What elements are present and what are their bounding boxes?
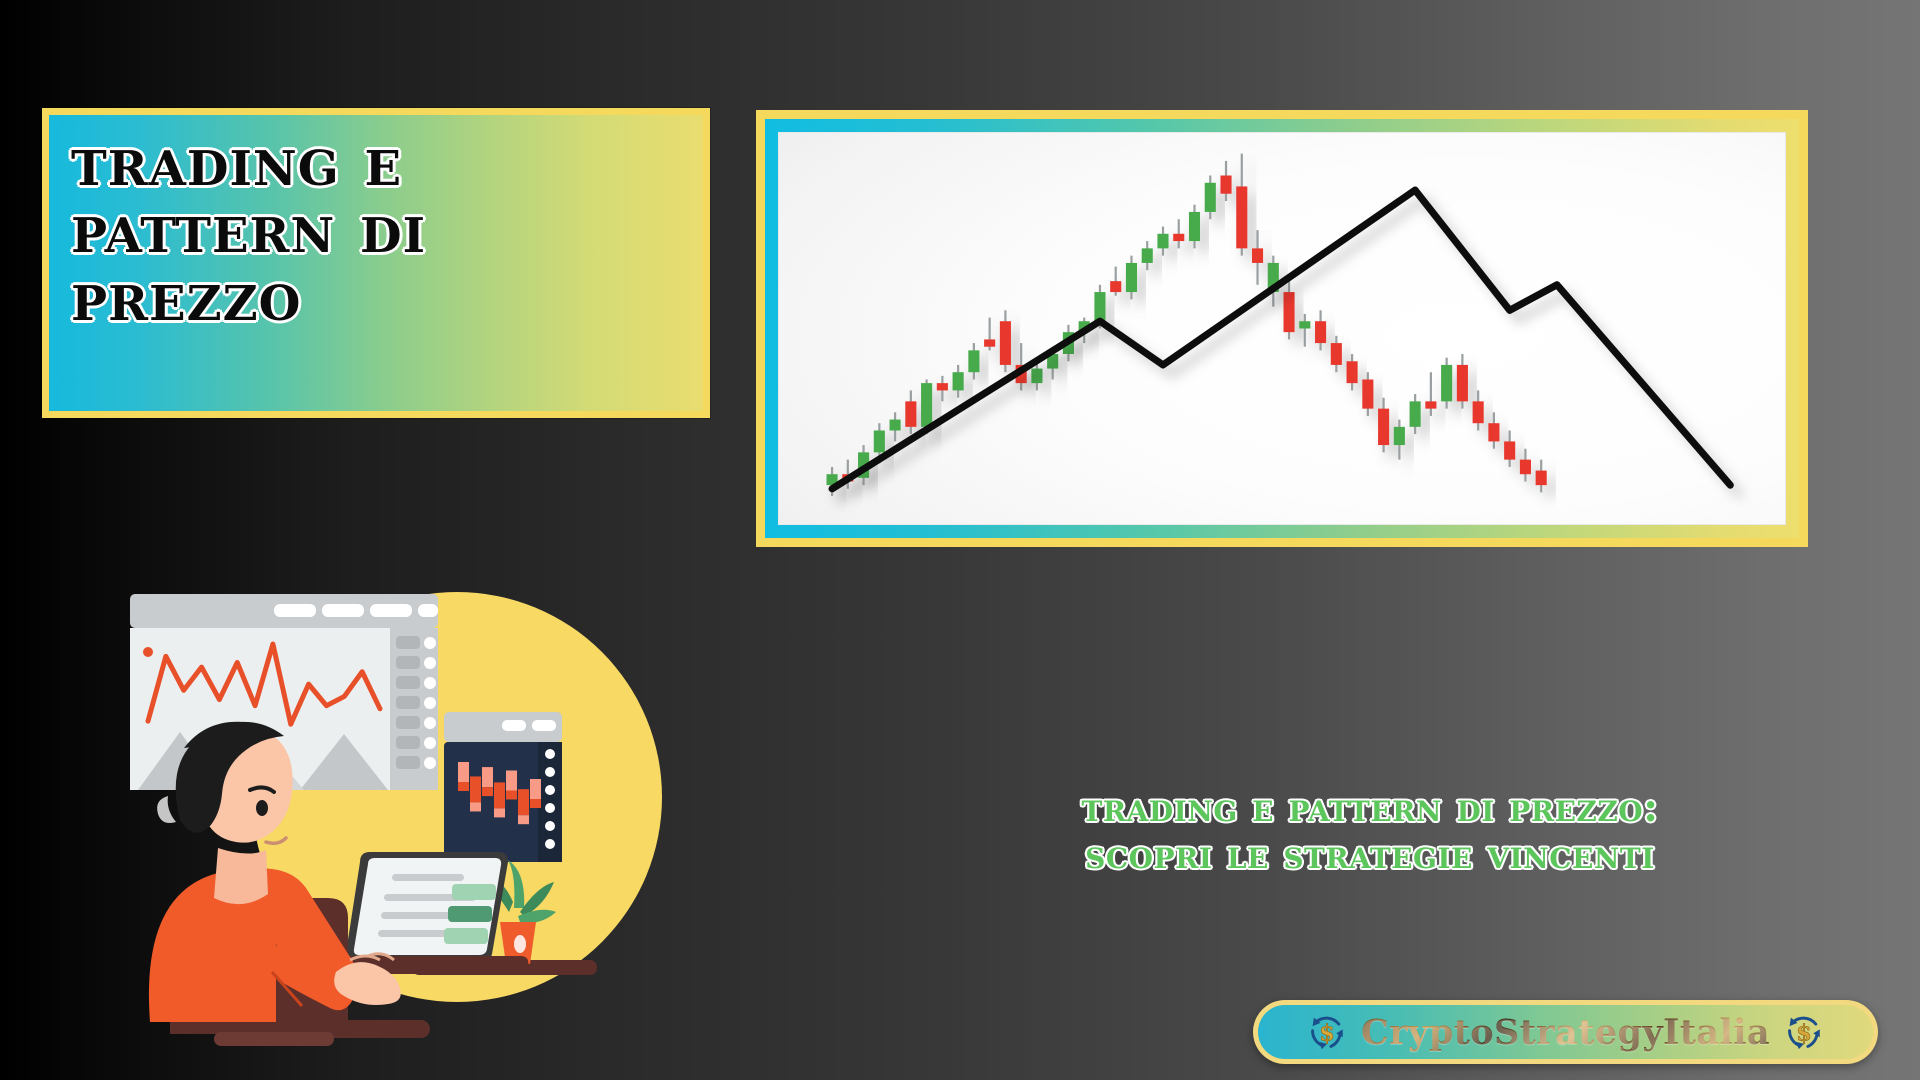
tablet-candle: [458, 762, 469, 782]
candle: [890, 412, 901, 441]
candle: [905, 390, 916, 434]
candle-layer: [827, 154, 1547, 496]
candle: [937, 376, 948, 401]
candle: [953, 365, 964, 398]
tablet-candle: [530, 779, 541, 799]
title-line-2: pattern di: [71, 196, 681, 263]
candle: [1457, 354, 1468, 409]
candle: [1205, 176, 1216, 220]
candle: [1157, 227, 1168, 256]
candle: [1394, 420, 1405, 460]
candle: [1378, 398, 1389, 453]
tablet-candle: [482, 767, 493, 787]
title-line-1: Trading e: [71, 129, 681, 196]
brand-name: CryptoStrategyItalia: [1361, 1012, 1770, 1053]
candle: [1504, 430, 1515, 466]
candle: [1441, 358, 1452, 409]
tablet: [444, 712, 562, 862]
subtitle-line-2: scopri le strategie vincenti: [880, 831, 1860, 878]
candle: [1425, 372, 1436, 416]
tablet-candle: [518, 789, 529, 815]
chart-frame: [756, 110, 1808, 547]
trend-line: [832, 190, 1730, 489]
trader-illustration-svg: [122, 552, 722, 1052]
tablet-candle: [494, 782, 505, 808]
candle: [1362, 372, 1373, 416]
candle: [1268, 256, 1279, 307]
subtitle-line-1: Trading e pattern di prezzo:: [880, 784, 1860, 831]
candle: [1252, 230, 1263, 285]
candle: [984, 318, 995, 351]
subtitle: Trading e pattern di prezzo: scopri le s…: [880, 784, 1860, 878]
page-title: Trading e pattern di prezzo: [71, 129, 681, 331]
tablet-candle: [470, 776, 481, 802]
title-line-3: prezzo: [71, 264, 681, 331]
candle: [1347, 354, 1358, 390]
title-card-inner: Trading e pattern di prezzo: [49, 115, 703, 411]
candle: [1473, 390, 1484, 430]
poster-root: Trading e pattern di prezzo: [0, 0, 1920, 1080]
candle: [1284, 281, 1295, 339]
candle: [1236, 154, 1247, 256]
candle: [1315, 310, 1326, 350]
dollar-recycle-icon-right: $: [1783, 1011, 1825, 1053]
svg-text:$: $: [1319, 1021, 1335, 1047]
candle: [1331, 336, 1342, 372]
dollar-recycle-icon-left: $: [1306, 1011, 1348, 1053]
candle: [1220, 161, 1231, 201]
candle: [1410, 394, 1421, 434]
candle: [1000, 310, 1011, 372]
candle: [1110, 267, 1121, 296]
tablet-candle: [506, 771, 517, 791]
brand-logo-inner: $ CryptoStrategyItalia $: [1258, 1005, 1873, 1059]
candle: [1520, 449, 1531, 482]
candle: [1173, 219, 1184, 248]
svg-text:$: $: [1796, 1021, 1812, 1047]
candlestick-chart-svg: [778, 132, 1786, 525]
candle: [1488, 412, 1499, 448]
trader-at-desk-illustration: [122, 552, 722, 1052]
candle: [1142, 241, 1153, 270]
chart-frame-border: [765, 119, 1799, 538]
candle: [1536, 460, 1547, 493]
candlestick-chart: [778, 132, 1786, 525]
candle: [1299, 314, 1310, 347]
candle: [968, 343, 979, 379]
title-card: Trading e pattern di prezzo: [42, 108, 710, 418]
candle: [1189, 205, 1200, 249]
candle: [1126, 256, 1137, 300]
brand-logo[interactable]: $ CryptoStrategyItalia $: [1253, 1000, 1878, 1064]
